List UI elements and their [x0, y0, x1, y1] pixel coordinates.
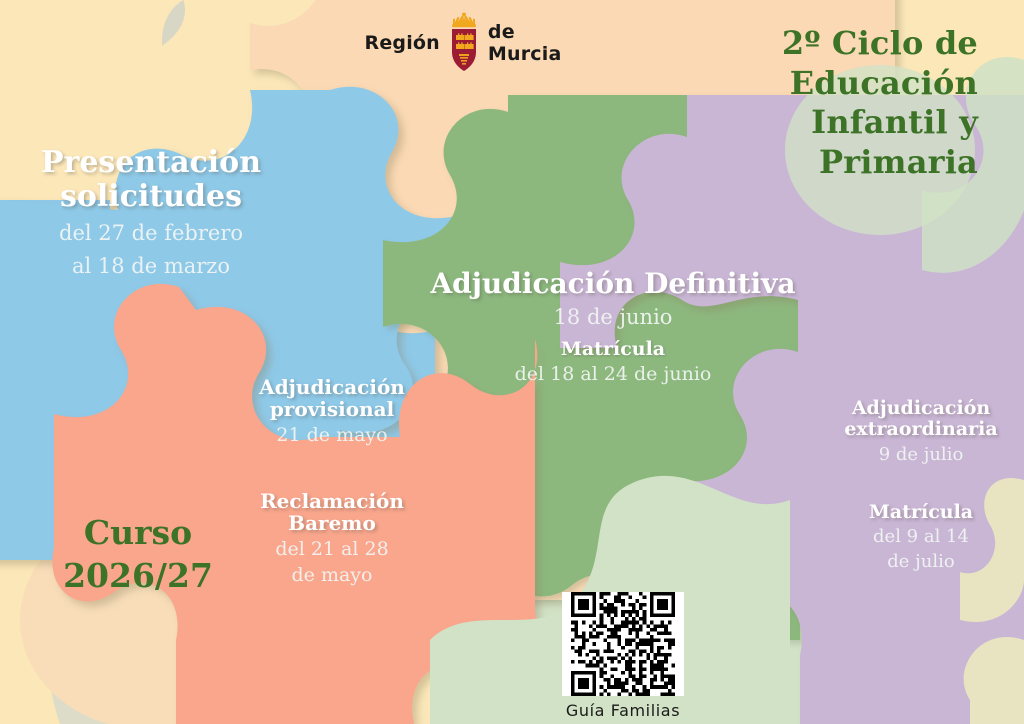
- poster-root: Región: [0, 0, 1024, 724]
- reclamacion-heading-line-2: Baremo: [232, 512, 432, 534]
- piece-label-adjudicacion-extraordinaria: Adjudicación extraordinaria 9 de julio: [818, 398, 1024, 465]
- provisional-date: 21 de mayo: [232, 424, 432, 447]
- provisional-heading-line-2: provisional: [232, 398, 432, 420]
- page-title-line-1: 2º Ciclo de: [558, 24, 978, 64]
- logo-word-de-murcia: de Murcia: [488, 21, 562, 65]
- qr-caption: Guía Familias: [559, 701, 687, 720]
- presentacion-date-line-2: al 18 de marzo: [6, 254, 296, 279]
- presentacion-heading-line-1: Presentación: [6, 146, 296, 180]
- presentacion-heading-line-2: solicitudes: [6, 180, 296, 214]
- matricula-julio-heading: Matrícula: [818, 502, 1024, 523]
- definitiva-matricula-subheading: Matrícula: [398, 338, 828, 360]
- provisional-heading-line-1: Adjudicación: [232, 376, 432, 398]
- qr-code-icon[interactable]: [562, 592, 684, 696]
- escudo-region-de-murcia-icon: [447, 12, 481, 74]
- logo-word-region: Región: [364, 32, 439, 54]
- qr-guia-familias[interactable]: Guía Familias: [559, 592, 687, 720]
- curso-line-1: Curso: [28, 512, 248, 555]
- piece-label-presentacion-solicitudes: Presentación solicitudes del 27 de febre…: [6, 146, 296, 280]
- definitiva-matricula-date: del 18 al 24 de junio: [398, 363, 828, 386]
- reclamacion-date-line-1: del 21 al 28: [232, 538, 432, 561]
- extraordinaria-date: 9 de julio: [818, 444, 1024, 466]
- definitiva-heading: Adjudicación Definitiva: [398, 268, 828, 299]
- definitiva-date: 18 de junio: [398, 305, 828, 330]
- reclamacion-date-line-2: de mayo: [232, 564, 432, 587]
- matricula-julio-date-line-1: del 9 al 14: [818, 526, 1024, 548]
- page-title: 2º Ciclo de Educación Infantil y Primari…: [558, 24, 978, 183]
- curso-label: Curso 2026/27: [28, 512, 248, 598]
- curso-line-2: 2026/27: [28, 555, 248, 598]
- page-title-line-2: Educación: [558, 64, 978, 104]
- reclamacion-heading-line-1: Reclamación: [232, 490, 432, 512]
- page-title-line-4: Primaria: [558, 143, 978, 183]
- matricula-julio-date-line-2: de julio: [818, 551, 1024, 573]
- piece-label-matricula-julio: Matrícula del 9 al 14 de julio: [818, 502, 1024, 572]
- page-title-line-3: Infantil y: [558, 103, 978, 143]
- piece-label-adjudicacion-definitiva: Adjudicación Definitiva 18 de junio Matr…: [398, 268, 828, 385]
- extraordinaria-heading-line-1: Adjudicación: [818, 398, 1024, 419]
- piece-label-adjudicacion-provisional: Adjudicación provisional 21 de mayo: [232, 376, 432, 447]
- piece-label-reclamacion-baremo: Reclamación Baremo del 21 al 28 de mayo: [232, 490, 432, 586]
- extraordinaria-heading-line-2: extraordinaria: [818, 419, 1024, 440]
- region-de-murcia-logo: Región: [372, 8, 554, 78]
- presentacion-date-line-1: del 27 de febrero: [6, 221, 296, 246]
